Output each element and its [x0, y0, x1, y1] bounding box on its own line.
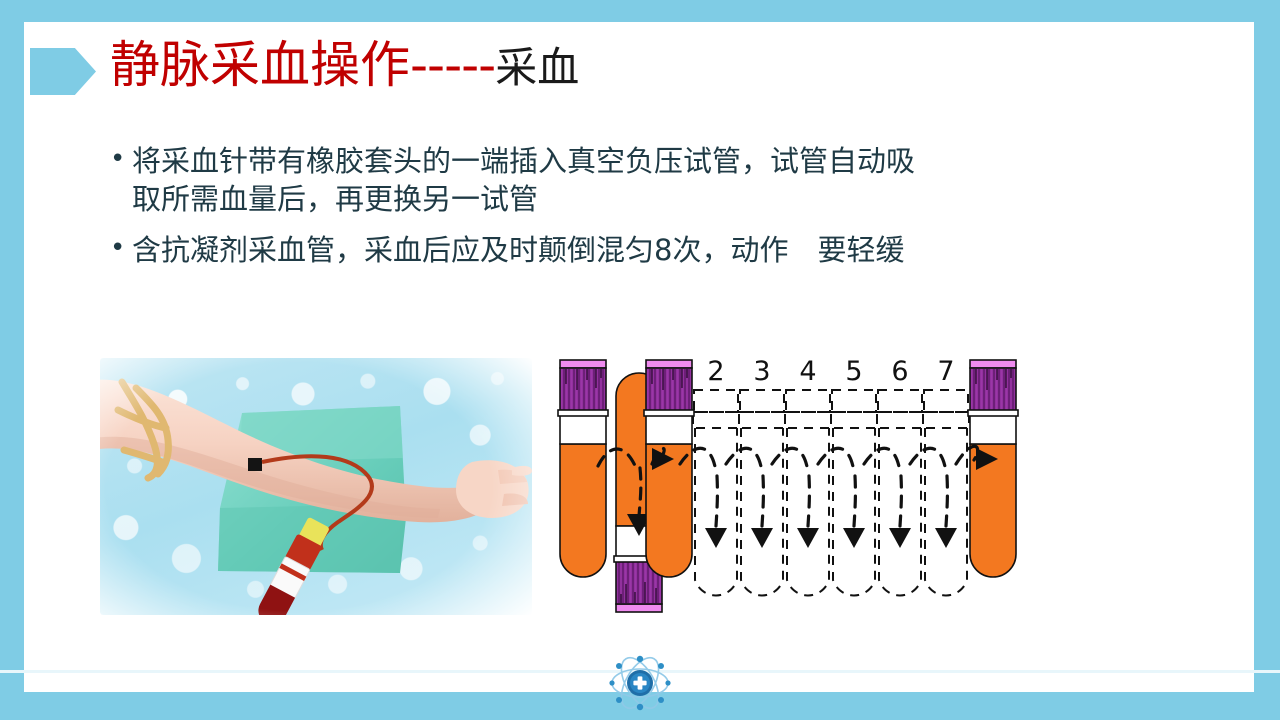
tube-number-3: 3: [753, 356, 770, 387]
ghost-tube-6: [877, 390, 923, 595]
arrowhead-5: [843, 528, 865, 548]
medical-atom-cross-logo: [591, 654, 689, 712]
slide-root: 静脉采血操作-----采血 • 将采血针带有橡胶套头的一端插入真空负压试管，试管…: [0, 0, 1280, 720]
flow-arrowheads: [705, 528, 957, 548]
bullet-text: 含抗凝剂采血管，采血后应及时颠倒混匀8次，动作 要轻缓: [132, 232, 1010, 270]
tube-1: [644, 360, 694, 577]
bullet-list: • 将采血针带有橡胶套头的一端插入真空负压试管，试管自动吸 取所需血量后，再更换…: [110, 143, 1010, 284]
needle-patch: [248, 458, 262, 471]
bullet-line-2: 取所需血量后，再更换另一试管: [132, 181, 1010, 219]
title-black-text: 采血: [495, 43, 579, 92]
photo-illustration: [100, 358, 532, 615]
ghost-tube-4: [785, 390, 831, 595]
ghost-tube-group: [693, 390, 969, 595]
title-red-text: 静脉采血操作: [110, 36, 410, 94]
list-item: • 含抗凝剂采血管，采血后应及时颠倒混匀8次，动作 要轻缓: [110, 232, 1010, 270]
bullet-text: 将采血针带有橡胶套头的一端插入真空负压试管，试管自动吸 取所需血量后，再更换另一…: [132, 143, 1010, 218]
tube-number-labels: 1 2 3 4 5 6 7 8: [660, 356, 1000, 387]
arrowhead-6: [889, 528, 911, 548]
tube-inversion-diagram: 1 2 3 4 5 6 7 8: [548, 356, 1028, 621]
ghost-tube-7: [923, 390, 969, 595]
bullet-line-1: 将采血针带有橡胶套头的一端插入真空负压试管，试管自动吸: [132, 144, 915, 178]
arrowhead-4: [797, 528, 819, 548]
tube-number-7: 7: [937, 356, 954, 387]
tube-diagram-svg: 1 2 3 4 5 6 7 8: [548, 356, 1028, 621]
ghost-tube-3: [739, 390, 785, 595]
ghost-tube-5: [831, 390, 877, 595]
tube-8: [968, 360, 1018, 577]
arrowhead-2: [705, 528, 727, 548]
venipuncture-photo: [100, 358, 532, 615]
footer-logo: [591, 654, 689, 712]
bullet-marker: •: [110, 143, 132, 177]
arrowhead-3: [751, 528, 773, 548]
arrowhead-7: [935, 528, 957, 548]
tube-number-6: 6: [891, 356, 908, 387]
tube-number-5: 5: [845, 356, 862, 387]
bullet-marker: •: [110, 232, 132, 266]
tube-start-upright: [558, 360, 608, 577]
bullet-line-1: 含抗凝剂采血管，采血后应及时颠倒混匀8次，动作 要轻缓: [132, 233, 904, 267]
list-item: • 将采血针带有橡胶套头的一端插入真空负压试管，试管自动吸 取所需血量后，再更换…: [110, 143, 1010, 218]
ghost-tube-2: [693, 390, 739, 595]
tube-number-2: 2: [707, 356, 724, 387]
title-dash: -----: [410, 36, 495, 94]
page-title: 静脉采血操作-----采血: [110, 40, 579, 90]
tube-number-4: 4: [799, 356, 816, 387]
